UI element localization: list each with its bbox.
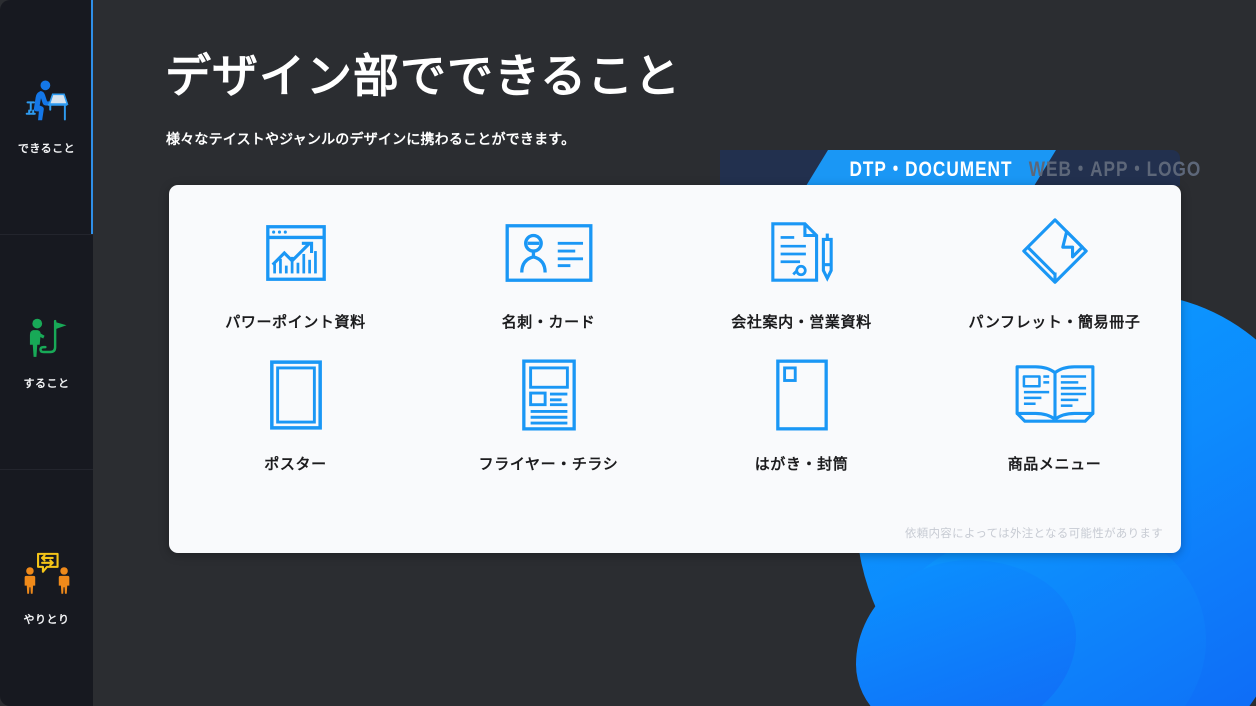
poster-frame-icon: [267, 359, 325, 431]
tab-bar: DTP・DOCUMENT WEB・APP・LOGO: [720, 150, 1180, 186]
slide-stage: できること すること: [0, 0, 1256, 706]
tab-web-app-logo-label: WEB・APP・LOGO: [1062, 150, 1169, 186]
service-item-company-profile[interactable]: 会社案内・営業資料: [675, 207, 928, 349]
sidebar-item-label: できること: [18, 140, 75, 156]
page-subtitle: 様々なテイストやジャンルのデザインに携わることができます。: [166, 129, 575, 149]
sidebar-item-dekirukoto[interactable]: できること: [0, 0, 93, 235]
service-item-label: パンフレット・簡易冊子: [969, 311, 1141, 332]
service-item-label: はがき・封筒: [755, 453, 849, 474]
service-item-poster[interactable]: ポスター: [169, 349, 422, 491]
open-book-menu-icon: [1010, 359, 1100, 431]
service-item-menu[interactable]: 商品メニュー: [928, 349, 1181, 491]
tab-dtp-document-label: DTP・DOCUMENT: [829, 150, 1034, 186]
service-item-label: 会社案内・営業資料: [731, 311, 871, 332]
services-grid: パワーポイント資料: [169, 207, 1181, 491]
postcard-icon: [773, 359, 831, 431]
sidebar-item-surukoto[interactable]: すること: [0, 235, 93, 470]
business-card-icon: [502, 217, 596, 289]
card-footnote: 依頼内容によっては外注となる可能性があります: [905, 525, 1163, 541]
service-item-label: 名刺・カード: [502, 311, 596, 332]
document-pen-icon: [763, 217, 841, 289]
service-item-label: 商品メニュー: [1008, 453, 1102, 474]
presentation-chart-icon: [261, 217, 331, 289]
service-item-flyer[interactable]: フライヤー・チラシ: [422, 349, 675, 491]
person-with-flag-icon: [21, 313, 73, 365]
service-item-label: フライヤー・チラシ: [479, 453, 619, 474]
sidebar-item-label: すること: [24, 375, 70, 391]
service-item-business-card[interactable]: 名刺・カード: [422, 207, 675, 349]
page-title: デザイン部でできること: [165, 52, 681, 102]
service-item-pamphlet[interactable]: パンフレット・簡易冊子: [928, 207, 1181, 349]
service-item-postcard[interactable]: はがき・封筒: [675, 349, 928, 491]
booklet-icon: [1016, 217, 1094, 289]
sidebar-item-yaritori[interactable]: やりとり: [0, 470, 93, 705]
person-at-desk-icon: [21, 78, 73, 130]
service-item-label: パワーポイント資料: [225, 311, 365, 332]
services-card: パワーポイント資料: [169, 185, 1181, 553]
service-item-label: ポスター: [264, 453, 326, 474]
flyer-icon: [519, 359, 579, 431]
content-area: デザイン部でできること 様々なテイストやジャンルのデザインに携わることができます…: [93, 0, 1256, 706]
service-item-powerpoint[interactable]: パワーポイント資料: [169, 207, 422, 349]
two-people-chat-icon: [21, 549, 73, 601]
sidebar-item-label: やりとり: [24, 611, 70, 627]
sidebar: できること すること: [0, 0, 93, 706]
